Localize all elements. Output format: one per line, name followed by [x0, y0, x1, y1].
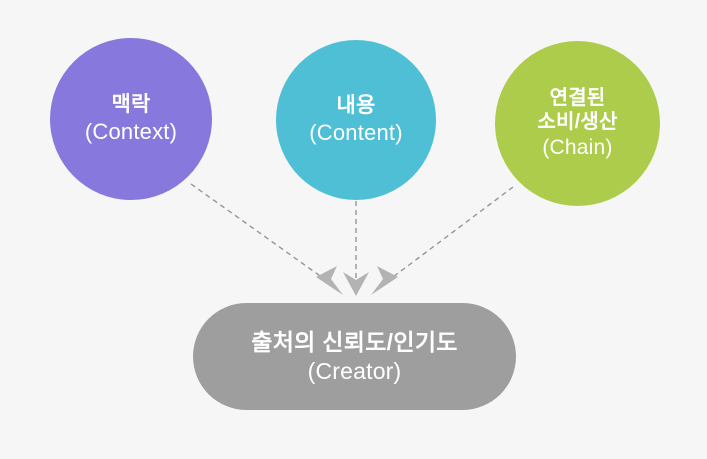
arrowhead-right-icon	[371, 266, 398, 295]
node-content-label-kr: 내용	[336, 93, 375, 119]
node-creator[interactable]: 출처의 신뢰도/인기도 (Creator)	[193, 303, 516, 410]
node-chain-label-kr-1: 연결된	[550, 86, 606, 110]
node-context-label-en: (Context)	[85, 118, 177, 146]
diagram-canvas: 맥락 (Context) 내용 (Content) 연결된 소비/생산 (Cha…	[0, 0, 707, 459]
arrowhead-left-icon	[316, 266, 343, 295]
connector-context-to-creator	[191, 184, 343, 295]
node-chain-label-kr-2: 소비/생산	[537, 110, 617, 134]
node-chain[interactable]: 연결된 소비/생산 (Chain)	[495, 41, 660, 206]
node-content-label-en: (Content)	[309, 119, 403, 147]
node-context-label-kr: 맥락	[111, 92, 150, 118]
node-creator-label-en: (Creator)	[308, 357, 402, 386]
node-context[interactable]: 맥락 (Context)	[50, 38, 212, 200]
connector-content-to-creator	[343, 201, 369, 296]
arrowhead-middle-icon	[343, 272, 369, 296]
connector-chain-to-creator	[371, 187, 513, 295]
node-creator-label-kr: 출처의 신뢰도/인기도	[251, 328, 458, 357]
node-chain-label-en: (Chain)	[542, 135, 612, 161]
node-content[interactable]: 내용 (Content)	[276, 40, 436, 200]
